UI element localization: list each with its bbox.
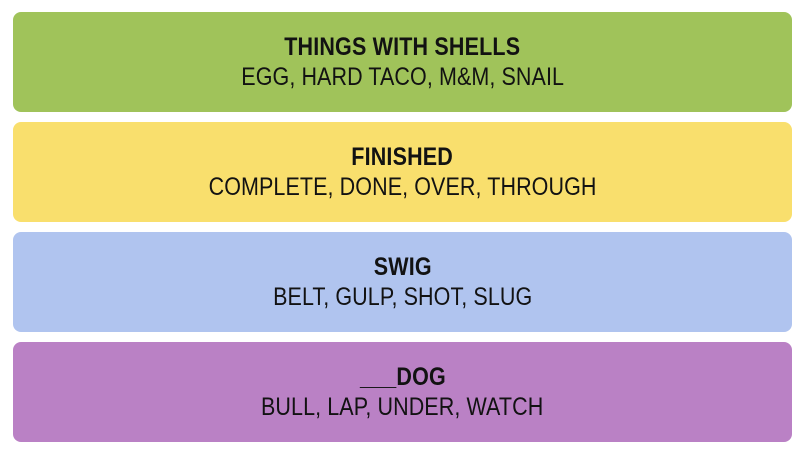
category-title: THINGS WITH SHELLS	[284, 33, 520, 61]
category-card-finished[interactable]: FINISHED COMPLETE, DONE, OVER, THROUGH	[13, 122, 792, 222]
category-title: SWIG	[373, 253, 431, 281]
category-members: BULL, LAP, UNDER, WATCH	[261, 393, 543, 422]
category-card-swig[interactable]: SWIG BELT, GULP, SHOT, SLUG	[13, 232, 792, 332]
connections-results-board: THINGS WITH SHELLS EGG, HARD TACO, M&M, …	[0, 0, 807, 450]
category-title: ___DOG	[360, 363, 446, 391]
category-card-blank-dog[interactable]: ___DOG BULL, LAP, UNDER, WATCH	[13, 342, 792, 442]
category-members: EGG, HARD TACO, M&M, SNAIL	[241, 63, 564, 92]
category-members: COMPLETE, DONE, OVER, THROUGH	[209, 173, 597, 202]
category-card-things-with-shells[interactable]: THINGS WITH SHELLS EGG, HARD TACO, M&M, …	[13, 12, 792, 112]
category-members: BELT, GULP, SHOT, SLUG	[273, 283, 532, 312]
category-title: FINISHED	[352, 143, 454, 171]
